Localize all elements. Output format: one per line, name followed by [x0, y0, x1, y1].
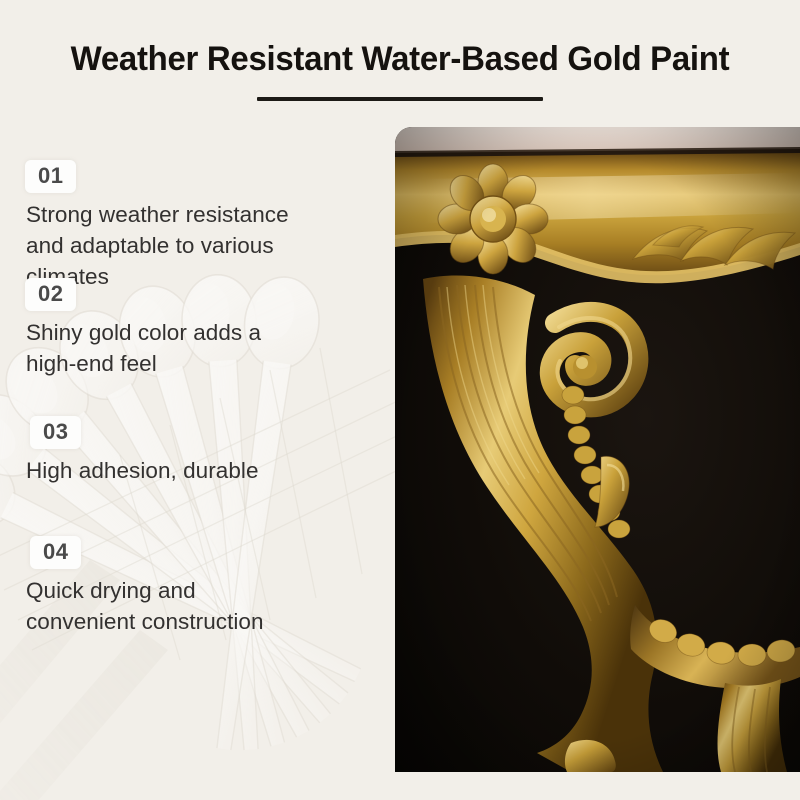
product-photo — [395, 127, 800, 772]
feature-list: 01 Strong weather resistance and adaptab… — [0, 160, 392, 780]
feature-item-02: 02 Shiny gold color adds a high-end feel — [0, 278, 392, 379]
infographic-canvas: Weather Resistant Water-Based Gold Paint… — [0, 0, 800, 800]
feature-number-badge-04: 04 — [30, 536, 81, 569]
feature-number-badge-03: 03 — [30, 416, 81, 449]
feature-item-03: 03 High adhesion, durable — [0, 416, 392, 486]
badge-wrap-03: 03 — [0, 416, 392, 449]
title-divider — [257, 97, 543, 101]
badge-wrap-04: 04 — [0, 536, 392, 569]
feature-text-04: Quick drying and convenient construction — [0, 575, 392, 637]
badge-wrap-01: 01 — [0, 160, 392, 193]
title-block: Weather Resistant Water-Based Gold Paint — [0, 38, 800, 101]
feature-text-02: Shiny gold color adds a high-end feel — [0, 317, 392, 379]
feature-item-01: 01 Strong weather resistance and adaptab… — [0, 160, 392, 292]
feature-number-badge-02: 02 — [25, 278, 76, 311]
feature-text-03: High adhesion, durable — [0, 455, 392, 486]
feature-number-badge-01: 01 — [25, 160, 76, 193]
feature-item-04: 04 Quick drying and convenient construct… — [0, 536, 392, 637]
product-photo-illustration — [395, 127, 800, 772]
badge-wrap-02: 02 — [0, 278, 392, 311]
page-title: Weather Resistant Water-Based Gold Paint — [18, 38, 782, 80]
